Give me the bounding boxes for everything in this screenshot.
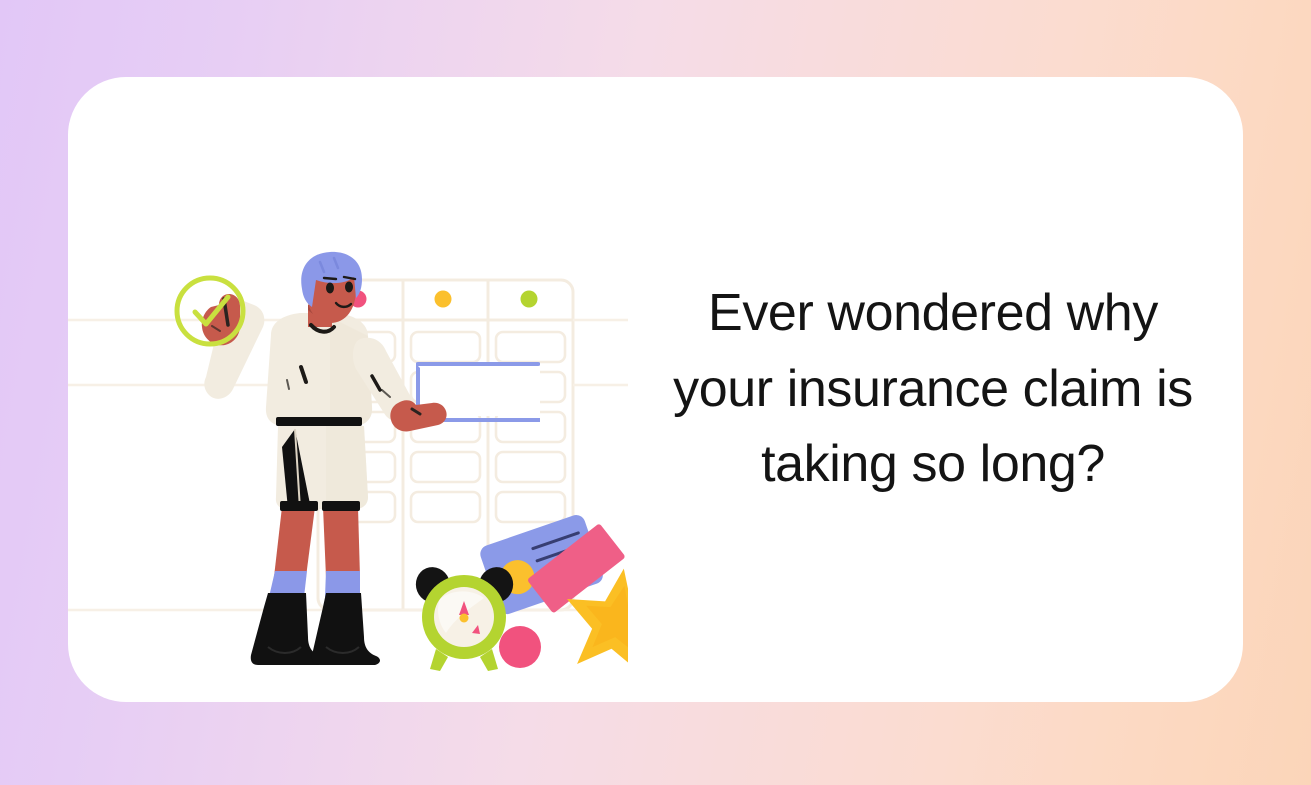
board-dot-doing <box>435 291 452 308</box>
headline-line-2: your insurance claim is <box>633 352 1233 427</box>
white-content-card: Ever wondered why your insurance claim i… <box>68 77 1243 702</box>
headline-line-3: taking so long? <box>633 427 1233 502</box>
hero-illustration <box>68 77 628 702</box>
page-title: Ever wondered why your insurance claim i… <box>633 276 1233 502</box>
pointing-hand <box>390 400 446 431</box>
pink-dot-shape <box>499 626 541 668</box>
banner-root: Ever wondered why your insurance claim i… <box>0 0 1311 785</box>
boots <box>251 593 380 665</box>
headline-container: Ever wondered why your insurance claim i… <box>623 77 1243 702</box>
board-dot-done <box>521 291 538 308</box>
headline-line-1: Ever wondered why <box>633 276 1233 351</box>
